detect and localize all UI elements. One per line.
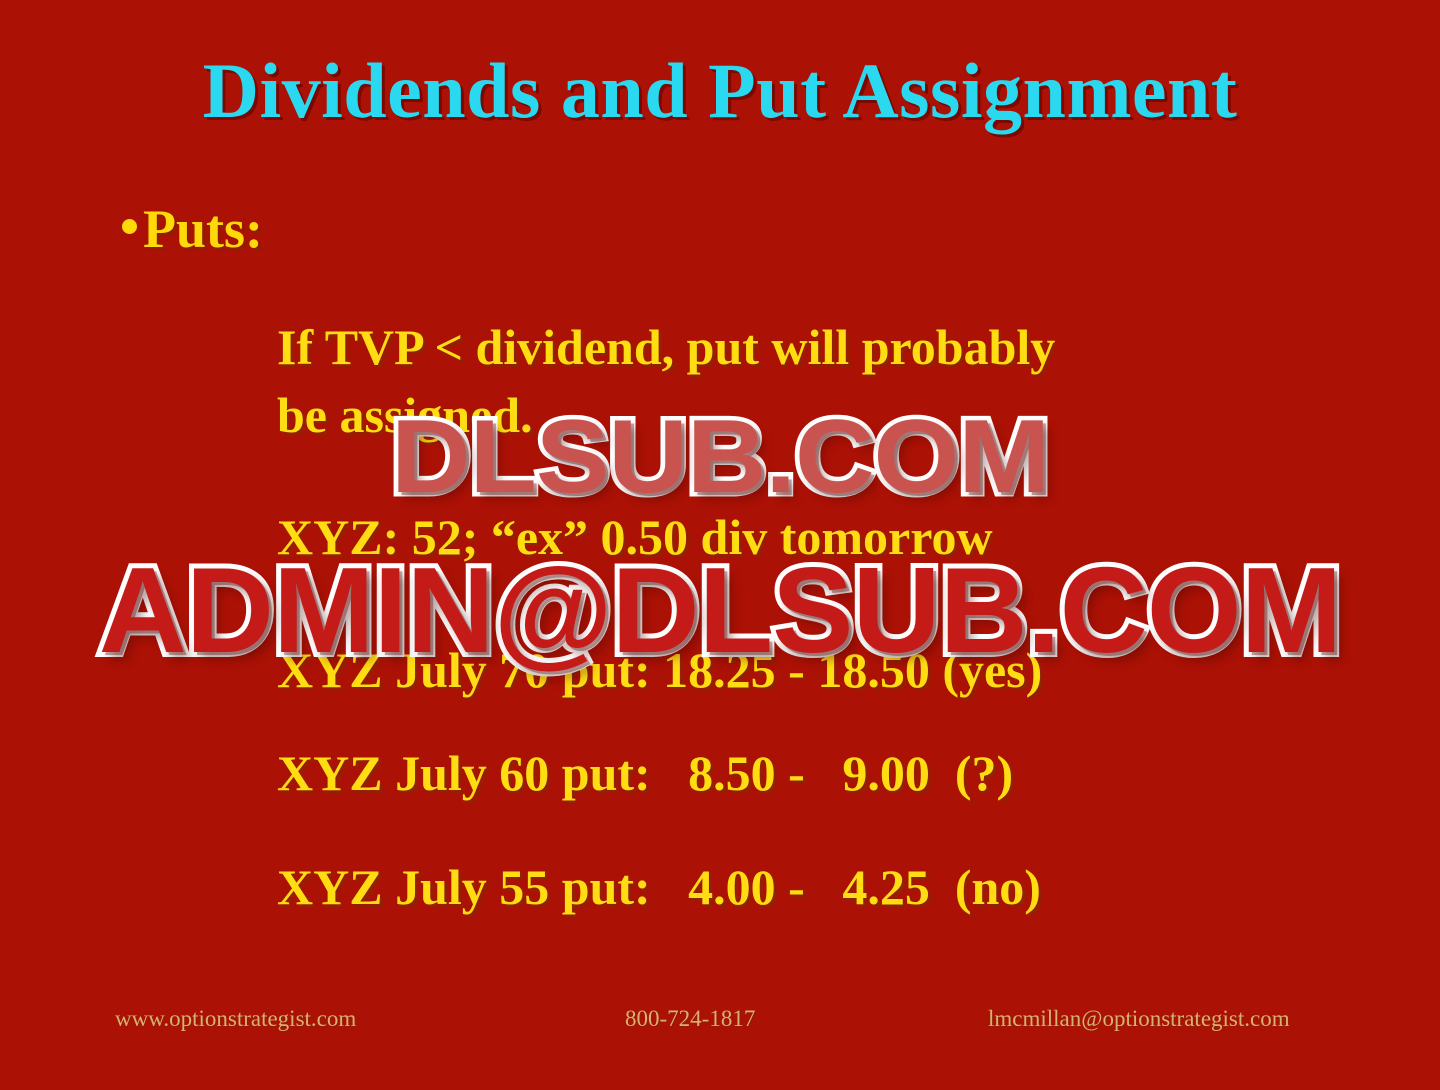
bullet-dot-icon bbox=[122, 219, 137, 234]
body-line-quote-55: XYZ July 55 put: 4.00 - 4.25 (no) bbox=[277, 862, 1397, 912]
footer-phone: 800-724-1817 bbox=[625, 1006, 755, 1032]
slide-canvas: Dividends and Put Assignment Puts: If TV… bbox=[0, 0, 1440, 1090]
watermark-site: DLSUB.COM bbox=[0, 398, 1440, 517]
page-title: Dividends and Put Assignment bbox=[0, 46, 1440, 136]
bullet-item-puts: Puts: bbox=[122, 198, 263, 260]
footer-website: www.optionstrategist.com bbox=[115, 1006, 356, 1032]
watermark-email: ADMIN@DLSUB.COM bbox=[0, 540, 1440, 680]
footer-email: lmcmillan@optionstrategist.com bbox=[988, 1006, 1290, 1032]
bullet-item-label: Puts: bbox=[143, 198, 263, 260]
body-line-condition-1: If TVP < dividend, put will probably bbox=[277, 322, 1397, 372]
body-line-quote-60: XYZ July 60 put: 8.50 - 9.00 (?) bbox=[277, 748, 1397, 798]
